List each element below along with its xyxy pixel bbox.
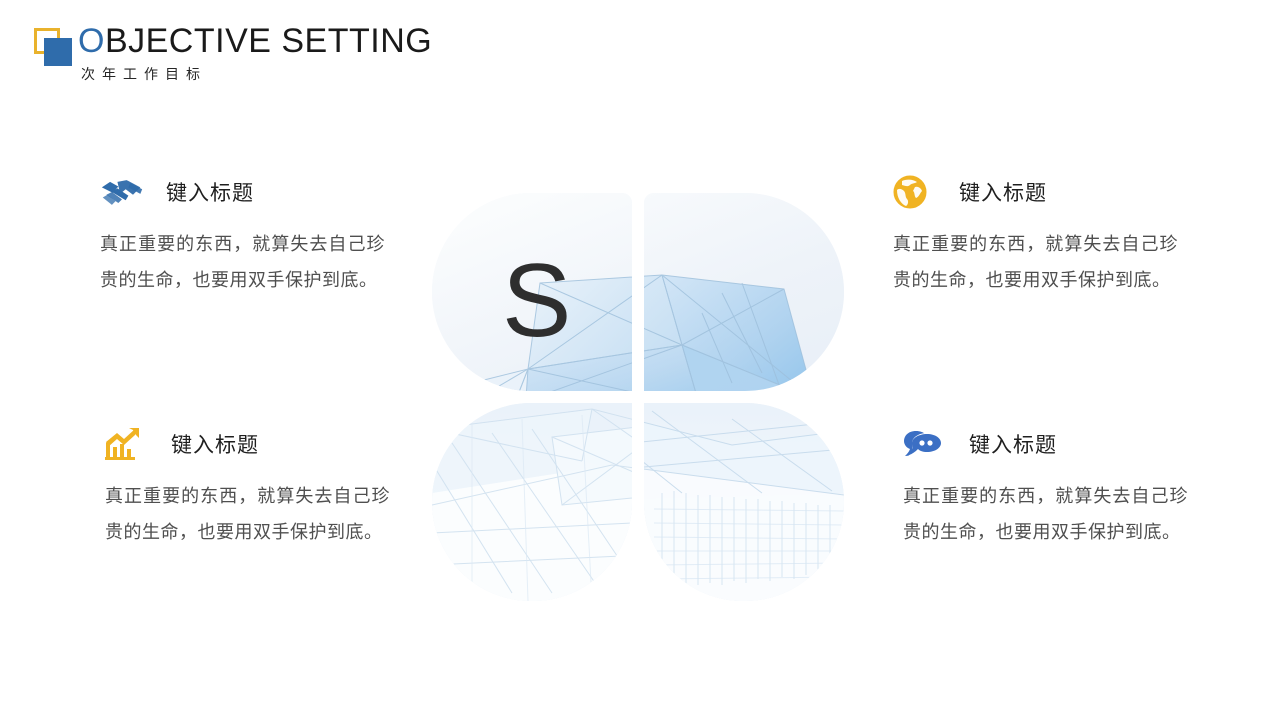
page-title-rest: BJECTIVE SETTING (105, 22, 432, 60)
faceted-glass-building-photo (432, 403, 632, 601)
bar-chart-growth-icon-svg (105, 428, 141, 460)
bar-chart-growth-icon (105, 426, 149, 462)
feature-title: 键入标题 (959, 177, 1047, 207)
feature-body-text: 真正重要的东西，就算失去自己珍贵的生命，也要用双手保护到底。 (903, 478, 1188, 550)
feature-block-top-left: 键入标题 真正重要的东西，就算失去自己珍贵的生命，也要用双手保护到底。 (100, 172, 400, 298)
feature-title: 键入标题 (969, 429, 1057, 459)
swot-petal-strengths[interactable]: S (432, 193, 632, 391)
feature-title: 键入标题 (166, 177, 254, 207)
faceted-glass-building-photo (644, 193, 844, 391)
speech-bubble-icon (903, 426, 947, 462)
handshake-icon-svg (100, 177, 144, 207)
swot-diagram: S (432, 193, 844, 601)
globe-icon (893, 174, 937, 210)
feature-header: 键入标题 (100, 172, 400, 212)
feature-header: 键入标题 (903, 424, 1203, 464)
feature-body-text: 真正重要的东西，就算失去自己珍贵的生命，也要用双手保护到底。 (105, 478, 390, 550)
page-subtitle: 次年工作目标 (81, 64, 432, 84)
globe-icon-svg (893, 175, 927, 209)
handshake-icon (100, 174, 144, 210)
swot-letter-s: S (502, 249, 571, 353)
faceted-glass-building-photo (644, 403, 844, 601)
swot-petal-threats[interactable]: T (644, 403, 844, 601)
feature-header: 键入标题 (105, 424, 405, 464)
logo-mark (32, 28, 76, 72)
feature-header: 键入标题 (893, 172, 1193, 212)
feature-body-text: 真正重要的东西，就算失去自己珍贵的生命，也要用双手保护到底。 (100, 226, 385, 298)
speech-bubble-icon-svg (903, 428, 943, 460)
swot-petal-weaknesses[interactable]: W (644, 193, 844, 391)
swot-petal-opportunities[interactable]: O (432, 403, 632, 601)
header-text-group: OBJECTIVE SETTING 次年工作目标 (78, 24, 432, 84)
feature-body-text: 真正重要的东西，就算失去自己珍贵的生命，也要用双手保护到底。 (893, 226, 1178, 298)
feature-title: 键入标题 (171, 429, 259, 459)
feature-block-bottom-left: 键入标题 真正重要的东西，就算失去自己珍贵的生命，也要用双手保护到底。 (105, 424, 405, 550)
feature-block-bottom-right: 键入标题 真正重要的东西，就算失去自己珍贵的生命，也要用双手保护到底。 (903, 424, 1203, 550)
feature-block-top-right: 键入标题 真正重要的东西，就算失去自己珍贵的生命，也要用双手保护到底。 (893, 172, 1193, 298)
page-header: OBJECTIVE SETTING 次年工作目标 (32, 24, 432, 84)
square-filled-icon (44, 38, 72, 66)
page-title-lead-letter: O (78, 22, 105, 60)
page-title: OBJECTIVE SETTING (78, 24, 432, 59)
